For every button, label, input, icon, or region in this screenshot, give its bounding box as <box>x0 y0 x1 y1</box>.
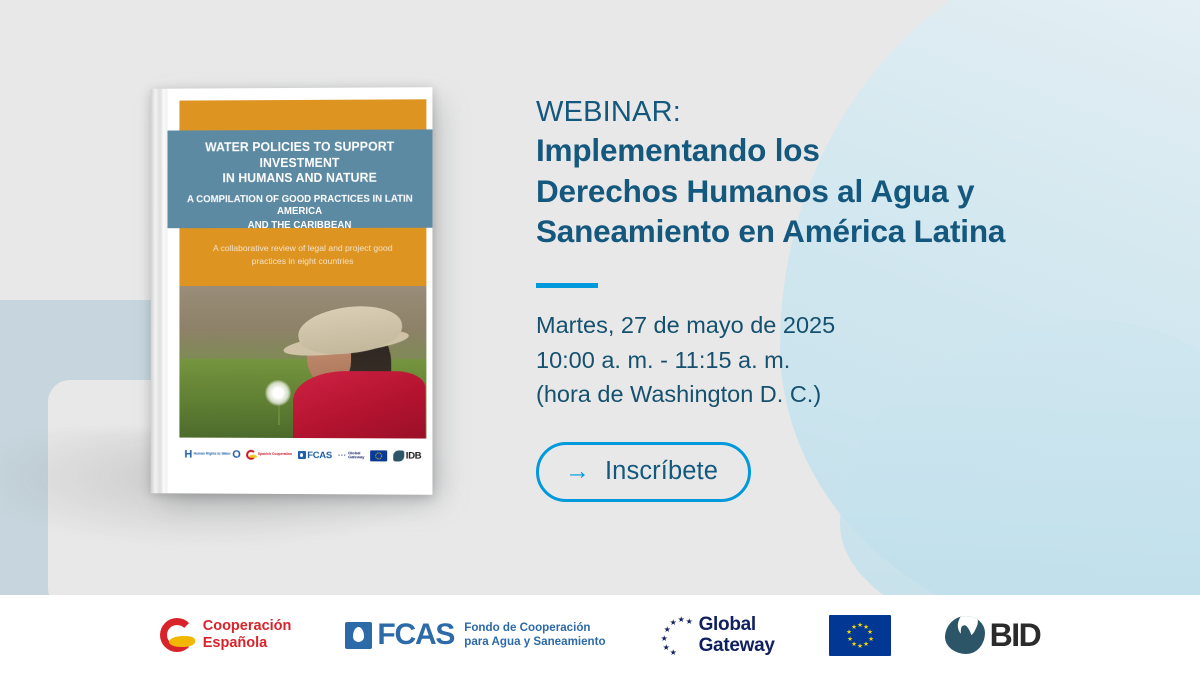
arrow-right-icon: → <box>565 459 590 484</box>
cooperacion-espanola-line2: Española <box>203 635 292 652</box>
h2o-tail: O <box>232 449 240 461</box>
book-spine <box>151 89 168 494</box>
cover-top-orange-band <box>179 99 426 130</box>
book: WATER POLICIES TO SUPPORT INVESTMENT IN … <box>151 87 433 495</box>
cover-logo-european-union-flag-icon <box>370 450 387 461</box>
photo-red-shawl <box>293 371 425 438</box>
cooperacion-espanola-mark-icon <box>160 618 194 652</box>
global-gateway-line1: Global <box>699 614 775 635</box>
poster-canvas: WATER POLICIES TO SUPPORT INVESTMENT IN … <box>0 0 1200 675</box>
sponsor-logo-bar: Cooperación Española FCAS Fondo de Coope… <box>0 595 1200 675</box>
event-schedule: Martes, 27 de mayo de 2025 10:00 a. m. -… <box>536 308 1176 412</box>
bid-mark-icon <box>945 616 985 654</box>
cover-subtitle-line1: A COMPILATION OF GOOD PRACTICES IN LATIN… <box>186 193 414 219</box>
cover-logo-global-gateway-icon: ✦✦✦ Global Gateway <box>338 451 365 460</box>
headline-line3: Saneamiento en América Latina <box>536 211 1176 251</box>
register-button[interactable]: → Inscríbete <box>536 442 751 502</box>
fcas-drop-icon <box>298 451 306 459</box>
bid-acronym: BID <box>990 617 1041 654</box>
cover-title-line1: WATER POLICIES TO SUPPORT INVESTMENT <box>186 138 414 170</box>
eu-stars-ring-icon: ★ ★ ★ ★ ★ ★ ★ ★ ★ ★ <box>847 623 872 648</box>
cover-logo-spanish-cooperation-icon: Spanish Cooperation <box>246 450 292 460</box>
register-button-label: Inscríbete <box>605 457 718 486</box>
gg-line2: Gateway <box>348 455 364 459</box>
event-time: 10:00 a. m. - 11:15 a. m. <box>536 343 1176 378</box>
page-title: Implementando los Derechos Humanos al Ag… <box>536 130 1176 251</box>
footer-logo-bid: BID <box>945 616 1041 654</box>
webinar-details: WEBINAR: Implementando los Derechos Huma… <box>536 96 1176 502</box>
fcas-tagline-line2: para Agua y Saneamiento <box>464 635 605 649</box>
cover-title-line2: IN HUMANS AND NATURE <box>186 170 414 186</box>
footer-logo-european-union-flag-icon: ★ ★ ★ ★ ★ ★ ★ ★ ★ ★ <box>829 615 891 656</box>
footer-logo-cooperacion-espanola: Cooperación Española <box>160 618 292 652</box>
fcas-water-drop-icon <box>345 622 372 649</box>
fcas-acronym: FCAS <box>377 618 454 652</box>
footer-logo-global-gateway: ★ ★ ★ ★ ★ ★ ★ Global Gateway <box>660 614 775 657</box>
headline-line1: Implementando los <box>536 130 1176 170</box>
cover-title-band: WATER POLICIES TO SUPPORT INVESTMENT IN … <box>168 129 433 228</box>
cooperacion-espanola-line1: Cooperación <box>203 618 292 635</box>
event-date: Martes, 27 de mayo de 2025 <box>536 308 1176 343</box>
global-gateway-stars-icon: ✦✦✦ <box>338 453 347 457</box>
cover-photograph <box>179 286 426 439</box>
book-front-cover: WATER POLICIES TO SUPPORT INVESTMENT IN … <box>168 87 433 495</box>
h2o-small-text: Human Rights to Water <box>194 453 231 457</box>
cover-logo-human-rights-h2o-icon: H Human Rights to Water O <box>184 449 240 461</box>
idb-mark-icon <box>393 450 404 461</box>
fcas-label: FCAS <box>307 450 332 461</box>
fcas-tagline-line1: Fondo de Cooperación <box>464 621 605 635</box>
cover-logo-fcas-icon: FCAS <box>298 450 332 461</box>
headline-line2: Derechos Humanos al Agua y <box>536 171 1176 211</box>
footer-logo-fcas: FCAS Fondo de Cooperación para Agua y Sa… <box>345 618 605 652</box>
spanish-cooperation-mark-icon <box>246 450 256 460</box>
global-gateway-line2: Gateway <box>699 635 775 656</box>
idb-label: IDB <box>406 450 422 461</box>
eu-stars-ring-icon <box>375 452 382 459</box>
webinar-kicker: WEBINAR: <box>536 96 1176 128</box>
book-cover-image: WATER POLICIES TO SUPPORT INVESTMENT IN … <box>150 88 435 498</box>
accent-divider <box>536 283 598 288</box>
cover-description: A collaborative review of legal and proj… <box>179 228 426 286</box>
spanish-cooperation-label: Spanish Cooperation <box>258 453 292 457</box>
cover-logo-idb-icon: IDB <box>393 450 421 461</box>
cover-logo-strip: H Human Rights to Water O Spanish Cooper… <box>179 440 426 471</box>
event-timezone: (hora de Washington D. C.) <box>536 377 1176 412</box>
global-gateway-stars-icon: ★ ★ ★ ★ ★ ★ ★ <box>660 615 694 655</box>
h2o-main: H <box>184 449 192 461</box>
